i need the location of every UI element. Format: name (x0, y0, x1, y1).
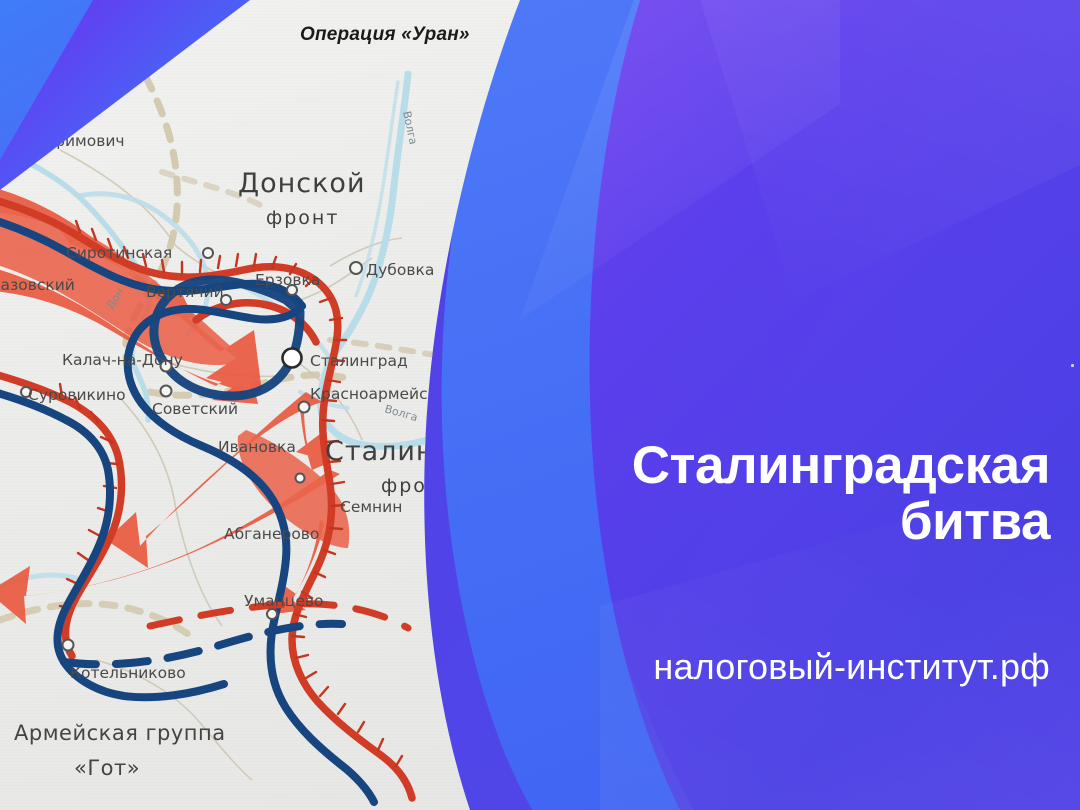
map-city-sovetsky: Советский (152, 400, 238, 418)
map-city-semnin: Семнин (340, 498, 402, 516)
map-german-dashed-line (64, 624, 342, 665)
map-front-sub-donskoy: фронт (266, 207, 339, 229)
map-city-dubovka: Дубовка (366, 261, 434, 279)
map-city-kotelnikovo: Котельниково (70, 664, 186, 682)
map-army-group-line1: Армейская группа (14, 721, 226, 745)
map-city-krasnoarmeysk: Красноармейск (310, 385, 437, 403)
operation-title: Операция «Уран» (300, 24, 470, 46)
map-city-stalingrad: Сталинград (310, 352, 408, 370)
map-city-ivanovka: Ивановка (218, 438, 296, 456)
map-city-umantsevo: Уманцево (244, 592, 323, 610)
map-city-perelazovsky: Перелазовский (0, 276, 75, 294)
map-city-erzovka: Ерзовка (255, 271, 320, 289)
map-city-abganerovo: Абганерово (224, 525, 319, 543)
slide-canvas: Донской фронт Сталинградский фронт Армей… (0, 0, 1080, 810)
map-city-kalach: Калач-на-Дону (62, 351, 183, 369)
map-river-volga-south: Волга (383, 402, 419, 424)
map-army-group-line2: «Гот» (74, 756, 140, 780)
website-url[interactable]: налоговый-институт.рф (530, 646, 1050, 688)
page-title: Сталинградская битва (530, 438, 1050, 550)
map-city-vertyachy: Вертячий (146, 283, 224, 301)
map-marker-stalingrad (283, 349, 302, 368)
page-title-line1: Сталинградская (632, 436, 1050, 495)
corner-dot-marker (1071, 364, 1074, 367)
map-city-sirotinskaya: Сиротинская (66, 244, 172, 262)
page-title-line2: битва (900, 492, 1050, 551)
map-front-label-donskoy: Донской (238, 168, 366, 199)
map-city-surovikino: Суровикино (28, 386, 126, 404)
